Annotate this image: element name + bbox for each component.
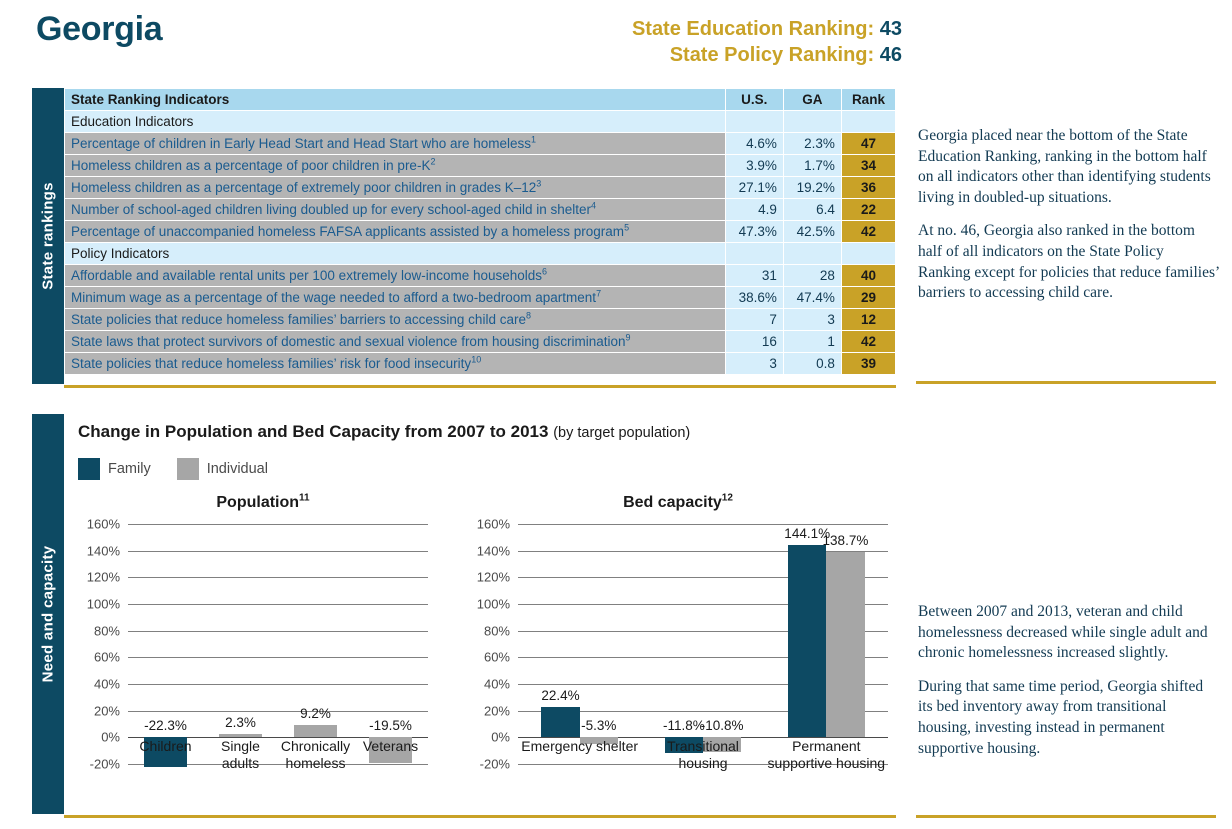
bar [219,734,263,737]
footnote-marker: 2 [430,157,435,167]
y-axis-tick-label: 40% [484,677,510,692]
policy-ranking-label: State Policy Ranking: [670,44,875,66]
table-section-blank-cell [841,111,895,133]
indicator-us-value: 31 [725,265,783,287]
legend-label-individual: Individual [207,461,268,477]
chart-bed-capacity: Bed capacity12 160%140%120%100%80%60%40%… [468,494,888,764]
bars-container: 22.4%-5.3%-11.8%-10.8%144.1%138.7% [518,524,888,764]
table-section-title: Policy Indicators [65,243,726,265]
indicator-rank-badge: 22 [841,199,895,221]
y-axis-tick-label: 160% [87,517,120,532]
indicator-us-value: 27.1% [725,177,783,199]
y-axis-tick-label: 120% [87,570,120,585]
bar [788,545,826,737]
y-axis-tick-label: 80% [484,623,510,638]
x-axis-category-label: Veterans [353,738,428,755]
indicator-state-value: 28 [783,265,841,287]
table-row: Number of school-aged children living do… [65,199,896,221]
chart-bed-capacity-title-text: Bed capacity [623,494,722,511]
sidebar-tab-state-rankings: State rankings [32,88,64,384]
y-axis-tick-label: 60% [484,650,510,665]
indicator-state-value: 6.4 [783,199,841,221]
indicator-state-value: 0.8 [783,353,841,375]
y-axis-tick-label: 40% [94,677,120,692]
table-section-title: Education Indicators [65,111,726,133]
education-ranking-label: State Education Ranking: [632,18,874,40]
indicator-rank-badge: 42 [841,221,895,243]
x-axis-category-label: Children [128,738,203,755]
bar-value-label: -5.3% [581,718,616,733]
bar-value-label: -22.3% [144,718,187,733]
footnote-marker: 3 [536,179,541,189]
commentary-need-capacity: Between 2007 and 2013, veteran and child… [918,602,1220,772]
indicator-state-value: 3 [783,309,841,331]
table-section-row: Education Indicators [65,111,896,133]
table-section-blank-cell [783,243,841,265]
indicator-label: Homeless children as a percentage of poo… [65,155,726,177]
divider-gold-table [64,385,896,388]
indicator-state-value: 42.5% [783,221,841,243]
charts-section-title: Change in Population and Bed Capacity fr… [78,422,896,442]
bar-value-label: -19.5% [369,718,412,733]
table-row: State laws that protect survivors of dom… [65,331,896,353]
x-axis-category-label: Chronically homeless [278,738,353,771]
y-axis-tick-label: 140% [87,543,120,558]
education-ranking-value: 43 [880,18,902,40]
table-section-blank-cell [783,111,841,133]
divider-gold-right-bottom [916,815,1216,818]
bar-value-label: 2.3% [225,715,256,730]
footnote-marker: 7 [596,289,601,299]
y-axis-tick-label: 20% [94,703,120,718]
y-axis-tick-label: 60% [94,650,120,665]
policy-ranking-value: 46 [880,44,902,66]
education-ranking-line: State Education Ranking: 43 [632,16,902,42]
state-profile-page: Georgia State Education Ranking: 43 Stat… [0,0,1232,829]
bar-value-label: -10.8% [701,718,744,733]
table-row: Affordable and available rental units pe… [65,265,896,287]
indicator-state-value: 2.3% [783,133,841,155]
chart-bed-capacity-title-note: 12 [722,493,733,504]
indicator-us-value: 3.9% [725,155,783,177]
commentary-rankings: Georgia placed near the bottom of the St… [918,126,1220,317]
x-axis-category-label: Emergency shelter [518,738,641,755]
bar-value-label: 138.7% [823,533,869,548]
indicator-rank-badge: 42 [841,331,895,353]
page-title: Georgia [36,10,162,49]
table-row: Percentage of unaccompanied homeless FAF… [65,221,896,243]
indicator-state-value: 1 [783,331,841,353]
footnote-marker: 4 [591,201,596,211]
x-axis-category-label: Single adults [203,738,278,771]
y-axis-tick-label: -20% [480,757,510,772]
y-axis-labels: 160%140%120%100%80%60%40%20%0%-20% [78,524,124,764]
indicator-us-value: 16 [725,331,783,353]
indicator-rank-badge: 40 [841,265,895,287]
footnote-marker: 5 [624,223,629,233]
indicator-rank-badge: 36 [841,177,895,199]
indicator-us-value: 3 [725,353,783,375]
table-section-blank-cell [841,243,895,265]
legend-label-family: Family [108,461,151,477]
commentary-rankings-paragraph: At no. 46, Georgia also ranked in the bo… [918,221,1220,303]
footnote-marker: 10 [471,355,481,365]
indicator-label: Number of school-aged children living do… [65,199,726,221]
indicator-us-value: 7 [725,309,783,331]
charts-section-title-text: Change in Population and Bed Capacity fr… [78,422,548,441]
chart-population-title: Population11 [78,494,448,516]
commentary-need-capacity-paragraph: During that same time period, Georgia sh… [918,677,1220,759]
y-axis-tick-label: 160% [477,517,510,532]
table-row: Homeless children as a percentage of poo… [65,155,896,177]
column-header-indicator: State Ranking Indicators [65,89,726,111]
charts-section: Change in Population and Bed Capacity fr… [64,414,896,824]
charts-section-subtitle: (by target population) [553,425,690,441]
table-row: State policies that reduce homeless fami… [65,353,896,375]
bar-value-label: 9.2% [300,706,331,721]
bar-value-label: 22.4% [541,688,579,703]
indicator-label: Minimum wage as a percentage of the wage… [65,287,726,309]
table-section-blank-cell [725,243,783,265]
column-header-us: U.S. [725,89,783,111]
indicator-state-value: 47.4% [783,287,841,309]
bars-container: -22.3%2.3%9.2%-19.5% [128,524,428,764]
indicator-state-value: 1.7% [783,155,841,177]
indicator-label: State laws that protect survivors of dom… [65,331,726,353]
footnote-marker: 1 [531,135,536,145]
sidebar-tab-need-and-capacity-label: Need and capacity [40,546,57,683]
legend-swatch-individual-icon [177,458,199,480]
indicator-us-value: 38.6% [725,287,783,309]
bar [541,707,579,737]
x-axis-category-label: Transitional housing [641,738,764,771]
indicator-rank-badge: 12 [841,309,895,331]
ranking-summary: State Education Ranking: 43 State Policy… [632,16,902,69]
column-header-rank: Rank [841,89,895,111]
y-axis-tick-label: 120% [477,570,510,585]
state-ranking-indicators-table: State Ranking Indicators U.S. GA Rank Ed… [64,88,896,375]
legend-item-family: Family [78,458,151,480]
footnote-marker: 9 [626,333,631,343]
indicator-rank-badge: 29 [841,287,895,309]
table-row: Minimum wage as a percentage of the wage… [65,287,896,309]
legend-item-individual: Individual [177,458,268,480]
indicator-state-value: 19.2% [783,177,841,199]
y-axis-tick-label: 140% [477,543,510,558]
y-axis-labels: 160%140%120%100%80%60%40%20%0%-20% [468,524,514,764]
indicator-rank-badge: 34 [841,155,895,177]
commentary-rankings-paragraph: Georgia placed near the bottom of the St… [918,126,1220,208]
indicator-rank-badge: 39 [841,353,895,375]
x-axis-category-label: Permanent supportive housing [765,738,888,771]
footnote-marker: 6 [542,267,547,277]
indicator-label: Affordable and available rental units pe… [65,265,726,287]
indicator-us-value: 4.9 [725,199,783,221]
legend-swatch-family-icon [78,458,100,480]
y-axis-tick-label: 100% [477,597,510,612]
table-section-blank-cell [725,111,783,133]
bar [826,552,864,737]
table-row: State policies that reduce homeless fami… [65,309,896,331]
indicator-us-value: 4.6% [725,133,783,155]
sidebar-tab-need-and-capacity: Need and capacity [32,414,64,814]
table-section-row: Policy Indicators [65,243,896,265]
bar [294,725,338,737]
y-axis-tick-label: 0% [101,730,120,745]
y-axis-tick-label: 100% [87,597,120,612]
commentary-need-capacity-paragraph: Between 2007 and 2013, veteran and child… [918,602,1220,664]
column-header-ga: GA [783,89,841,111]
bar-value-label: -11.8% [663,718,705,733]
chart-population-title-text: Population [216,494,299,511]
indicator-rank-badge: 47 [841,133,895,155]
y-axis-tick-label: 80% [94,623,120,638]
sidebar-tab-state-rankings-label: State rankings [40,182,57,290]
indicator-label: State policies that reduce homeless fami… [65,353,726,375]
table-row: Homeless children as a percentage of ext… [65,177,896,199]
chart-population: Population11 160%140%120%100%80%60%40%20… [78,494,448,764]
indicator-label: Percentage of unaccompanied homeless FAF… [65,221,726,243]
footnote-marker: 8 [526,311,531,321]
indicator-label: Percentage of children in Early Head Sta… [65,133,726,155]
chart-legend: Family Individual [78,458,896,480]
table-header-row: State Ranking Indicators U.S. GA Rank [65,89,896,111]
table-row: Percentage of children in Early Head Sta… [65,133,896,155]
chart-bed-capacity-title: Bed capacity12 [468,494,888,516]
indicator-label: State policies that reduce homeless fami… [65,309,726,331]
divider-gold-right-top [916,381,1216,384]
y-axis-tick-label: -20% [90,757,120,772]
chart-population-title-note: 11 [299,493,310,504]
y-axis-tick-label: 0% [491,730,510,745]
indicator-label: Homeless children as a percentage of ext… [65,177,726,199]
policy-ranking-line: State Policy Ranking: 46 [632,42,902,68]
indicator-us-value: 47.3% [725,221,783,243]
y-axis-tick-label: 20% [484,703,510,718]
